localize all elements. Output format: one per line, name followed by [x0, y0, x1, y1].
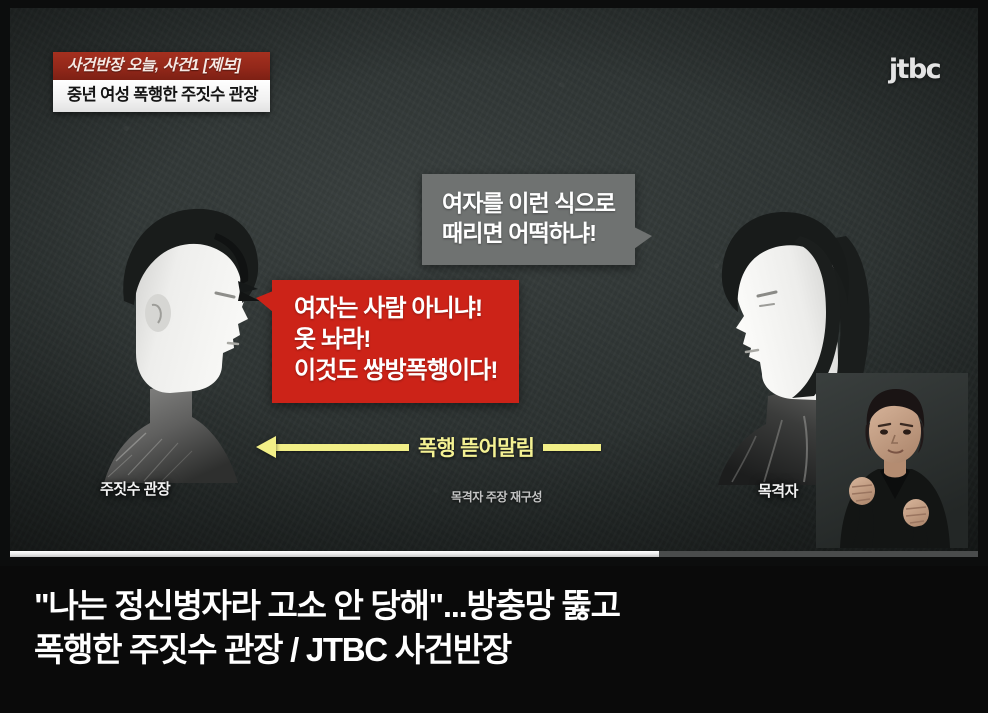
arrow-annotation-label: 폭행 뜯어말림 [409, 432, 543, 462]
arrow-shaft-left [276, 444, 409, 451]
news-graphic-frame: 사건반장 오늘, 사건1 [제보] 중년 여성 폭행한 주짓수 관장 jtbc … [10, 8, 978, 556]
sign-language-interpreter [816, 373, 968, 548]
jtbc-watermark-logo: jtbc [889, 54, 940, 85]
news-banner: 사건반장 오늘, 사건1 [제보] 중년 여성 폭행한 주짓수 관장 [53, 52, 270, 112]
speech-bubble-tail-icon [634, 227, 652, 249]
caption-line-1: "나는 정신병자라 고소 안 당해"...방충망 뚫고 [34, 584, 968, 628]
bubble-owner-line-2: 옷 놔라! [294, 324, 497, 355]
intervention-arrow-annotation: 폭행 뜯어말림 [256, 431, 691, 463]
label-accused-man: 주짓수 관장 [100, 478, 170, 499]
video-caption-text: "나는 정신병자라 고소 안 당해"...방충망 뚫고 폭행한 주짓수 관장 /… [34, 584, 968, 672]
banner-program-line: 사건반장 오늘, 사건1 [제보] [53, 52, 270, 80]
video-progress-fill [10, 551, 659, 557]
reconstruction-note: 목격자 주장 재구성 [451, 488, 542, 505]
arrow-left-icon [256, 436, 276, 458]
label-witness-woman: 목격자 [758, 480, 798, 501]
arrow-shaft-right [543, 444, 601, 451]
page-right-gutter [988, 0, 1000, 713]
speech-bubble-tail-icon [256, 291, 273, 312]
bubble-owner-line-1: 여자는 사람 아니냐! [294, 293, 497, 324]
video-progress-bar[interactable] [10, 551, 978, 557]
video-player-stage[interactable]: 사건반장 오늘, 사건1 [제보] 중년 여성 폭행한 주짓수 관장 jtbc … [0, 0, 988, 566]
speech-bubble-gym-owner: 여자는 사람 아니냐! 옷 놔라! 이것도 쌍방폭행이다! [272, 280, 519, 403]
speech-bubble-witness: 여자를 이런 식으로 때리면 어떡하냐! [422, 174, 635, 265]
bubble-owner-line-3: 이것도 쌍방폭행이다! [294, 355, 497, 386]
caption-line-2: 폭행한 주짓수 관장 / JTBC 사건반장 [34, 628, 968, 672]
screenshot-root: 사건반장 오늘, 사건1 [제보] 중년 여성 폭행한 주짓수 관장 jtbc … [0, 0, 1000, 713]
banner-headline-line: 중년 여성 폭행한 주짓수 관장 [53, 80, 270, 112]
bubble-witness-line-2: 때리면 어떡하냐! [442, 218, 615, 248]
video-caption-area: "나는 정신병자라 고소 안 당해"...방충망 뚫고 폭행한 주짓수 관장 /… [0, 566, 988, 713]
bubble-witness-line-1: 여자를 이런 식으로 [442, 188, 615, 218]
